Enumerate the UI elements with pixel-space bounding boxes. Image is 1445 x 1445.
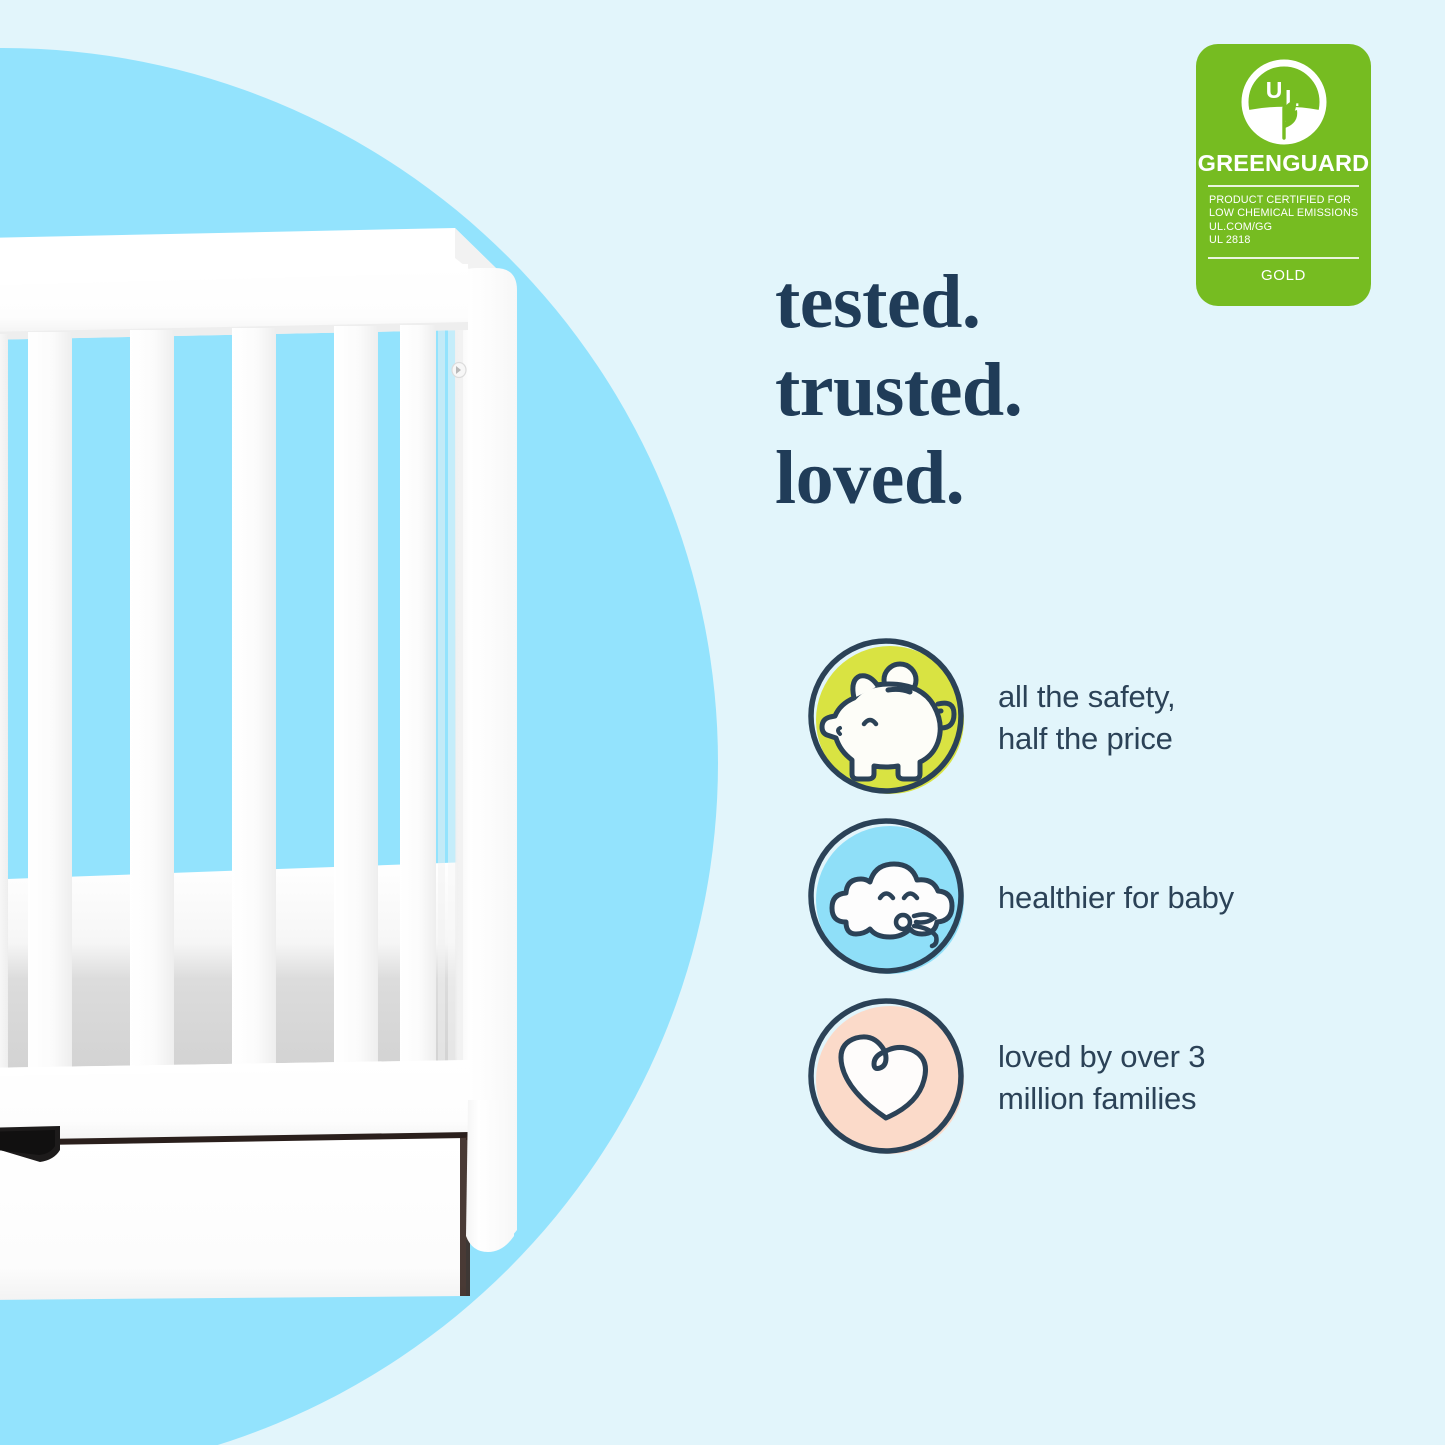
- headline: tested. trusted. loved.: [775, 258, 1022, 522]
- cert-line-2: LOW CHEMICAL EMISSIONS: [1209, 207, 1358, 221]
- crib-product-image: [0, 0, 580, 1310]
- feature-text-loved: loved by over 3 million families: [998, 1036, 1205, 1120]
- feature-line-1: loved by over 3: [998, 1036, 1205, 1078]
- feature-line-2: half the price: [998, 718, 1175, 760]
- feature-line-1: healthier for baby: [998, 877, 1234, 919]
- crib-leg: [466, 1100, 516, 1252]
- feature-text-safety-price: all the safety, half the price: [998, 676, 1175, 760]
- promotional-image: U L GREENGUARD PRODUCT CERTIFIED FOR LOW…: [0, 0, 1445, 1445]
- greenguard-certification-details: PRODUCT CERTIFIED FOR LOW CHEMICAL EMISS…: [1196, 187, 1371, 248]
- heart-icon: [802, 992, 974, 1164]
- svg-text:U: U: [1265, 77, 1282, 103]
- feature-line-1: all the safety,: [998, 676, 1175, 718]
- feature-text-healthier: healthier for baby: [998, 877, 1234, 919]
- feature-line-2: million families: [998, 1078, 1205, 1120]
- cert-line-1: PRODUCT CERTIFIED FOR: [1209, 194, 1358, 208]
- greenguard-level: GOLD: [1196, 267, 1371, 284]
- blowing-cloud-icon: [802, 812, 974, 984]
- badge-divider-bottom: [1208, 257, 1359, 259]
- crib-storage-drawer: [0, 1126, 470, 1300]
- headline-line-1: tested.: [775, 258, 1022, 346]
- piggy-bank-icon: [802, 632, 974, 804]
- greenguard-badge: U L GREENGUARD PRODUCT CERTIFIED FOR LOW…: [1196, 44, 1371, 306]
- feature-list: all the safety, half the price: [802, 628, 1402, 1168]
- feature-item-healthier: healthier for baby: [802, 808, 1402, 988]
- feature-item-loved: loved by over 3 million families: [802, 988, 1402, 1168]
- cert-line-4: UL 2818: [1209, 234, 1358, 248]
- crib-bolt: [452, 363, 466, 378]
- headline-line-2: trusted.: [775, 346, 1022, 434]
- cert-line-3: UL.COM/GG: [1209, 221, 1358, 235]
- ul-logo-icon: U L: [1196, 44, 1371, 146]
- greenguard-title: GREENGUARD: [1196, 150, 1371, 177]
- headline-line-3: loved.: [775, 434, 1022, 522]
- feature-item-safety-price: all the safety, half the price: [802, 628, 1402, 808]
